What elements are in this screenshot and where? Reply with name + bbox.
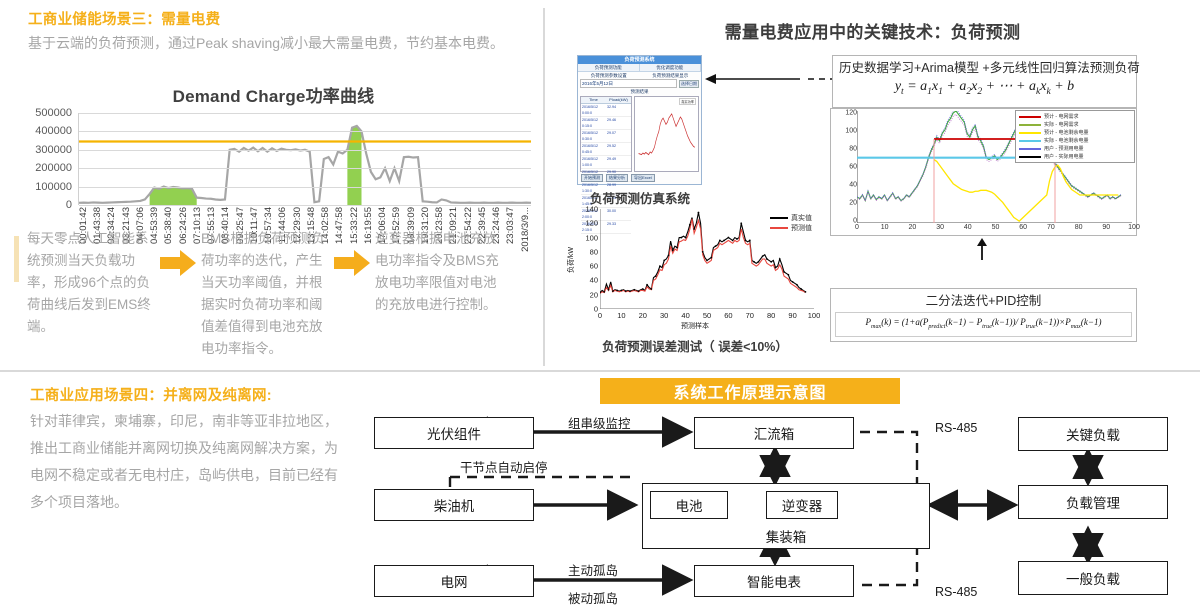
demand-gridline (79, 168, 531, 169)
error-data-point (796, 284, 798, 286)
error-data-point (736, 238, 738, 240)
error-data-point (650, 288, 652, 290)
app-table-row[interactable]: 2016/5/12 0:30:029.07 (581, 130, 631, 143)
error-data-point (638, 290, 640, 292)
error-data-point (715, 245, 717, 247)
error-data-point (668, 255, 670, 257)
slide-root: 工商业储能场景三：需量电费 基于云端的负荷预测，通过Peak shaving减小… (0, 0, 1200, 603)
error-y-tick: 20 (590, 290, 598, 299)
app-col-time: Time (581, 97, 606, 103)
demand-y-tick: 0 (66, 199, 72, 211)
error-data-point (719, 240, 721, 242)
system-diagram: 光伏组件 汇流箱 柴油机 集装箱 电池 逆变器 电网 智能电表 关键负载 负载管… (370, 405, 1190, 603)
diagram-box-key-load[interactable]: 关键负载 (1018, 417, 1168, 451)
pid-y-tick: 20 (849, 200, 857, 207)
diagram-label-string-monitor: 组串级监控 (568, 413, 631, 432)
pid-legend-item: 实际 - 电网需求 (1019, 121, 1131, 128)
diagram-label-rs485-top: RS-485 (935, 421, 977, 435)
error-x-tick: 0 (598, 311, 602, 320)
app-table-row[interactable]: 2016/5/12 0:45:029.52 (581, 143, 631, 156)
pid-legend-label: 预计 - 电池剩余电量 (1044, 129, 1088, 136)
error-x-tick: 10 (617, 311, 625, 320)
error-y-tick: 100 (585, 233, 598, 242)
pid-y-tick: 40 (849, 182, 857, 189)
error-data-point (805, 291, 807, 293)
error-data-point (740, 222, 742, 224)
flow-arrow-2-icon (329, 228, 375, 276)
pid-legend-label: 实际 - 电网需求 (1044, 121, 1078, 128)
app-table-cell: 29.49 (606, 156, 631, 168)
arima-formula-title: 历史数据学习+Arima模型 +多元线性回归算法预测负荷 (839, 59, 1130, 77)
diagram-label-rs485-bottom: RS-485 (935, 585, 977, 599)
app-date-input[interactable]: 2016年5月12日 (580, 79, 677, 88)
panel-demand-charge: 工商业储能场景三：需量电费 基于云端的负荷预测，通过Peak shaving减小… (0, 0, 543, 370)
pid-x-tick: 100 (1128, 224, 1140, 231)
error-data-point (732, 240, 734, 242)
app-table-cell: 29.46 (606, 117, 631, 129)
diagram-box-diesel[interactable]: 柴油机 (374, 489, 534, 521)
error-data-point (783, 271, 785, 273)
pid-x-tick: 60 (1019, 224, 1027, 231)
pid-legend-swatch (1019, 140, 1041, 142)
app-date-picker-button[interactable]: 选择日期 (679, 80, 699, 88)
pid-legend-item: 预计 - 电池剩余电量 (1019, 129, 1131, 136)
diagram-box-meter[interactable]: 智能电表 (694, 565, 854, 597)
forecast-error-chart: 020406080100120140 负荷/kW 010203040506070… (570, 205, 820, 345)
app-btn-export[interactable]: 导出Excel (631, 174, 655, 182)
pid-x-tick: 90 (1102, 224, 1110, 231)
pid-x-tick: 30 (936, 224, 944, 231)
error-data-point (710, 257, 712, 259)
error-data-point (659, 265, 661, 267)
pid-formula-equation: Pmax(k) = (1+a(Ppredict(k−1) − Ptrue(k−1… (835, 312, 1132, 337)
app-table-cell: 29.07 (606, 130, 631, 142)
pid-legend-label: 用户 - 实际用电量 (1044, 153, 1083, 160)
error-data-point (616, 290, 618, 292)
pid-legend-swatch (1019, 132, 1041, 134)
error-data-point (646, 284, 648, 286)
app-footer-buttons: 开始预测 结果分析 导出Excel (578, 173, 701, 183)
pid-y-tick: 60 (849, 164, 857, 171)
app-table-cell: 2016/5/12 0:30:0 (581, 130, 606, 142)
error-x-tick: 100 (808, 311, 821, 320)
pid-simulation-chart: 020406080100120 0102030405060708090100 预… (830, 108, 1137, 236)
load-forecast-title: 需量电费应用中的关键技术：负荷预测 (545, 18, 1200, 43)
pid-x-tick: 10 (881, 224, 889, 231)
error-x-tick: 70 (746, 311, 754, 320)
app-table-cell: 29.52 (606, 143, 631, 155)
error-legend-swatch (770, 217, 788, 219)
error-data-point (770, 261, 772, 263)
pid-y-tick: 120 (845, 110, 857, 117)
error-data-point (655, 275, 657, 277)
error-x-tick: 60 (724, 311, 732, 320)
system-diagram-title: 系统工作原理示意图 (600, 378, 900, 404)
demand-y-tick: 100000 (35, 181, 72, 193)
app-table-cell: 2016/5/12 0:15:0 (581, 117, 606, 129)
error-data-point (629, 290, 631, 292)
pid-x-tick: 20 (908, 224, 916, 231)
error-data-point (676, 247, 678, 249)
diagram-box-pv[interactable]: 光伏组件 (374, 417, 534, 449)
app-window-title: 负荷预测系统 (578, 56, 701, 64)
error-data-point (800, 288, 802, 290)
load-forecast-app-screenshot: 负荷预测系统 负荷预测功能 优化调度功能 负荷预测参数设置 负荷预测结果显示 2… (577, 55, 702, 185)
error-data-point (757, 261, 759, 263)
demand-charge-flow: 每天零点人工智能系统预测当天负载功率，形成96个点的负荷曲线后发到EMS终端。 … (14, 228, 542, 358)
error-x-tick: 50 (703, 311, 711, 320)
app-chart-legend: 真实功率 (679, 98, 696, 105)
app-chart-svg (635, 97, 698, 171)
error-data-point (706, 260, 708, 262)
error-chart-x-axis: 0102030405060708090100 (600, 311, 814, 321)
error-data-point (753, 261, 755, 263)
demand-gridline (79, 131, 531, 132)
app-table-cell: 2016/5/12 0:00:0 (581, 104, 606, 116)
pid-legend-label: 用户 - 预测用电量 (1044, 145, 1083, 152)
pid-legend-swatch (1019, 116, 1041, 118)
diagram-label-active-island: 主动孤岛 (568, 560, 618, 579)
error-data-point (608, 289, 610, 291)
pid-legend-item: 预计 - 电网需求 (1019, 113, 1131, 120)
pid-chart-x-axis: 0102030405060708090100 (857, 224, 1134, 234)
error-data-point (672, 250, 674, 252)
app-date-row: 2016年5月12日 选择日期 (578, 79, 701, 88)
demand-charge-chart-title: Demand Charge功率曲线 (16, 82, 531, 107)
diagram-box-grid[interactable]: 电网 (374, 565, 534, 597)
flow-step-1: 每天零点人工智能系统预测当天负载功率，形成96个点的负荷曲线后发到EMS终端。 (27, 228, 155, 338)
pid-chart-legend: 预计 - 电网需求实际 - 电网需求预计 - 电池剩余电量实际 - 电池剩余电量… (1015, 110, 1135, 163)
demand-charge-chart: Demand Charge功率曲线 0100000200000300000400… (16, 82, 531, 232)
error-data-point (723, 240, 725, 242)
pid-legend-item: 实际 - 电池剩余电量 (1019, 137, 1131, 144)
scene-three-description: 基于云端的负荷预测，通过Peak shaving减小最大需量电费，节约基本电费。 (28, 30, 528, 57)
app-table-header: Time Pload(kW) (581, 97, 631, 104)
app-table-row[interactable]: 2016/5/12 1:00:029.49 (581, 156, 631, 169)
error-data-point (787, 274, 789, 276)
error-data-point (693, 228, 695, 230)
app-result-table[interactable]: Time Pload(kW) 2016/5/12 0:00:032.942016… (580, 96, 632, 172)
pid-x-tick: 40 (964, 224, 972, 231)
app-col-pload: Pload(kW) (606, 97, 631, 103)
error-data-point (702, 251, 704, 253)
app-sub-headers: 负荷预测参数设置 负荷预测结果显示 (578, 72, 701, 79)
error-data-point (621, 290, 623, 292)
pid-y-tick: 80 (849, 146, 857, 153)
app-tab-forecast[interactable]: 负荷预测功能 (578, 64, 640, 71)
demand-gridline (79, 187, 531, 188)
pid-legend-item: 用户 - 实际用电量 (1019, 153, 1131, 160)
demand-y-tick: 300000 (35, 144, 72, 156)
demand-gridline (79, 113, 531, 114)
pid-y-tick: 100 (845, 128, 857, 135)
pid-series-line (934, 160, 1118, 222)
diagram-box-load-management[interactable]: 负载管理 (1018, 485, 1168, 519)
error-data-point (663, 260, 665, 262)
error-data-point (749, 240, 751, 242)
error-chart-x-label: 预测样本 (570, 321, 820, 331)
error-legend-label: 预测值 (791, 223, 812, 233)
pid-legend-item: 用户 - 预测用电量 (1019, 145, 1131, 152)
arima-formula-box: 历史数据学习+Arima模型 +多元线性回归算法预测负荷 yt = a1x1 +… (832, 55, 1137, 108)
arima-formula-equation: yt = a1x1 + a2x2 + ⋯ + akxk + b (839, 77, 1130, 102)
error-x-tick: 40 (681, 311, 689, 320)
forecast-error-caption: 负荷预测误差测试（ 误差<10%） (570, 336, 820, 355)
error-chart-y-label: 负荷/kW (566, 247, 576, 273)
app-sub-params: 负荷预测参数设置 (578, 72, 640, 79)
error-data-point (779, 258, 781, 260)
demand-chart-y-axis: 0100000200000300000400000500000 (18, 113, 76, 205)
error-x-tick: 80 (767, 311, 775, 320)
demand-chart-plot (78, 113, 531, 205)
app-btn-analyze[interactable]: 结果分析 (606, 174, 628, 182)
error-data-point (633, 289, 635, 291)
scene-four-title: 工商业应用场景四：并离网及纯离网: (30, 384, 272, 405)
demand-gridline (79, 205, 531, 206)
error-data-point (792, 281, 794, 283)
app-tabs: 负荷预测功能 优化调度功能 (578, 64, 701, 72)
diagram-box-general-load[interactable]: 一般负载 (1018, 561, 1168, 595)
error-y-tick: 60 (590, 262, 598, 271)
error-y-tick: 40 (590, 276, 598, 285)
error-data-point (698, 212, 700, 214)
app-table-cell: 2016/5/12 0:45:0 (581, 143, 606, 155)
demand-y-tick: 400000 (35, 125, 72, 137)
pid-formula-title: 二分法迭代+PID控制 (835, 292, 1132, 310)
demand-y-tick: 500000 (35, 107, 72, 119)
app-table-row[interactable]: 2016/5/12 0:00:032.94 (581, 104, 631, 117)
error-data-point (745, 240, 747, 242)
error-y-tick: 140 (585, 205, 598, 214)
diagram-box-inverter[interactable]: 逆变器 (766, 491, 838, 519)
app-run-label: 预测结果 (578, 88, 701, 95)
pid-legend-swatch (1019, 156, 1041, 158)
app-sub-results: 负荷预测结果显示 (640, 72, 702, 79)
flow-step-2: EMS根据负荷预测负荷功率的迭代，产生当天功率阈值，并根据实时负荷功率和阈值差值… (201, 228, 329, 360)
app-table-row[interactable]: 2016/5/12 0:15:029.46 (581, 117, 631, 130)
error-data-point (766, 258, 768, 260)
error-data-point (775, 267, 777, 269)
app-legend-actual: 真实功率 (681, 100, 694, 104)
pid-legend-swatch (1019, 124, 1041, 126)
error-data-point (680, 237, 682, 239)
error-y-tick: 120 (585, 219, 598, 228)
error-data-point (685, 237, 687, 239)
error-x-tick: 30 (660, 311, 668, 320)
app-body: Time Pload(kW) 2016/5/12 0:00:032.942016… (578, 95, 701, 173)
demand-chart-svg (79, 113, 531, 205)
scene-four-description: 针对菲律宾，柬埔寨，印尼，南非等亚非拉地区，推出工商业储能并离网切换及纯离网解决… (30, 408, 340, 516)
error-data-point (612, 290, 614, 292)
scene-three-title: 工商业储能场景三：需量电费 (28, 8, 220, 29)
diagram-label-passive-island: 被动孤岛 (568, 588, 618, 607)
diagram-box-combiner[interactable]: 汇流箱 (694, 417, 854, 449)
formula-to-app-arrow-icon (705, 72, 845, 86)
app-table-cell: 2016/5/12 1:00:0 (581, 156, 606, 168)
error-legend-swatch (770, 227, 788, 229)
error-legend-item: 预测值 (770, 223, 812, 233)
error-data-point (762, 255, 764, 257)
pid-legend-label: 预计 - 电网需求 (1044, 113, 1078, 120)
error-chart-legend: 真实值预测值 (770, 213, 812, 233)
app-tab-dispatch[interactable]: 优化调度功能 (640, 64, 702, 71)
demand-y-tick: 200000 (35, 162, 72, 174)
flow-accent-bar (14, 236, 19, 282)
error-x-tick: 90 (788, 311, 796, 320)
pid-formula-box: 二分法迭代+PID控制 Pmax(k) = (1+a(Ppredict(k−1)… (830, 288, 1137, 342)
error-legend-item: 真实值 (770, 213, 812, 223)
error-data-point (625, 290, 627, 292)
error-data-point (728, 237, 730, 239)
error-data-point (642, 288, 644, 290)
pid-x-tick: 50 (992, 224, 1000, 231)
app-table-cell: 32.94 (606, 104, 631, 116)
pid-legend-label: 实际 - 电池剩余电量 (1044, 137, 1088, 144)
error-data-point (689, 224, 691, 226)
panel-load-forecast: 需量电费应用中的关键技术：负荷预测 负荷预测系统 负荷预测功能 优化调度功能 负… (545, 0, 1200, 370)
demand-gridline (79, 150, 531, 151)
error-x-tick: 20 (639, 311, 647, 320)
app-forecast-chart: 真实功率 (634, 96, 699, 172)
flow-arrow-1-icon (155, 228, 201, 276)
pid-legend-swatch (1019, 148, 1041, 150)
pid-x-tick: 70 (1047, 224, 1055, 231)
error-legend-label: 真实值 (791, 213, 812, 223)
diagram-box-battery[interactable]: 电池 (650, 491, 728, 519)
diagram-label-dry-contact: 干节点自动启停 (460, 457, 548, 476)
pid-chart-y-axis: 020406080100120 (833, 111, 857, 219)
error-y-tick: 80 (590, 247, 598, 256)
pid-x-tick: 0 (855, 224, 859, 231)
demand-load-line (79, 126, 531, 203)
pid-formula-up-arrow-icon (975, 238, 989, 260)
pid-x-tick: 80 (1075, 224, 1083, 231)
error-data-point (603, 291, 605, 293)
app-btn-start[interactable]: 开始预测 (581, 174, 603, 182)
flow-step-3: 逆变器根据电池充放电功率指令及BMS充放电功率限值对电池的充放电进行控制。 (375, 228, 503, 316)
